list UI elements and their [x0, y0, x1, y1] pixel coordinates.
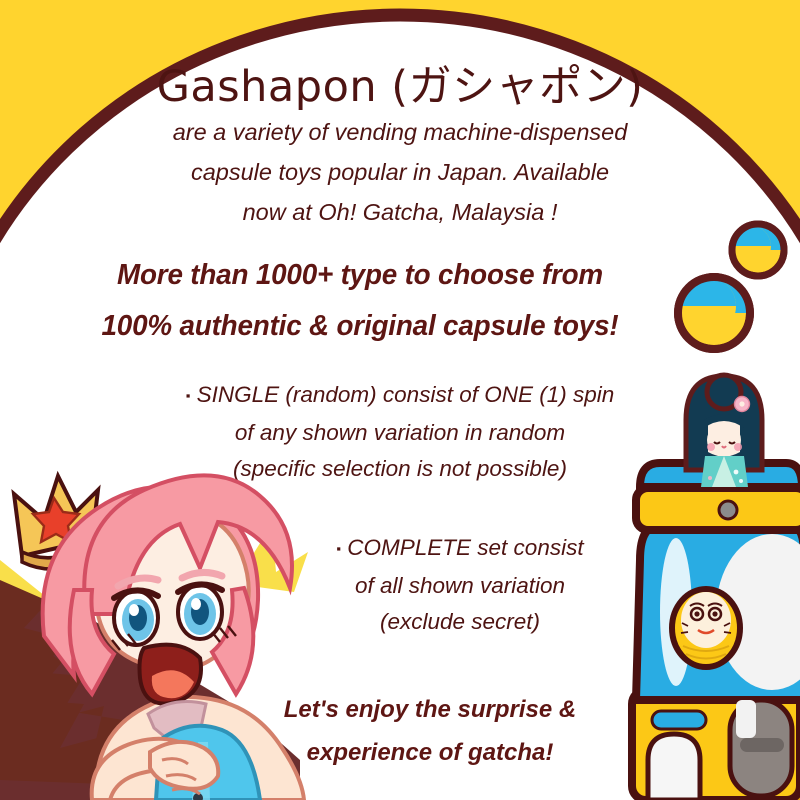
- kokeshi-doll: [686, 375, 762, 487]
- daruma-capsule-toy: [672, 589, 740, 667]
- flower-icon: [735, 397, 750, 412]
- eye-right: [178, 584, 222, 639]
- poster-canvas: Gashapon (ガシャポン) are a variety of vendin…: [0, 0, 800, 800]
- decoration-layer-front: [0, 0, 800, 800]
- gashapon-machine: [632, 463, 800, 800]
